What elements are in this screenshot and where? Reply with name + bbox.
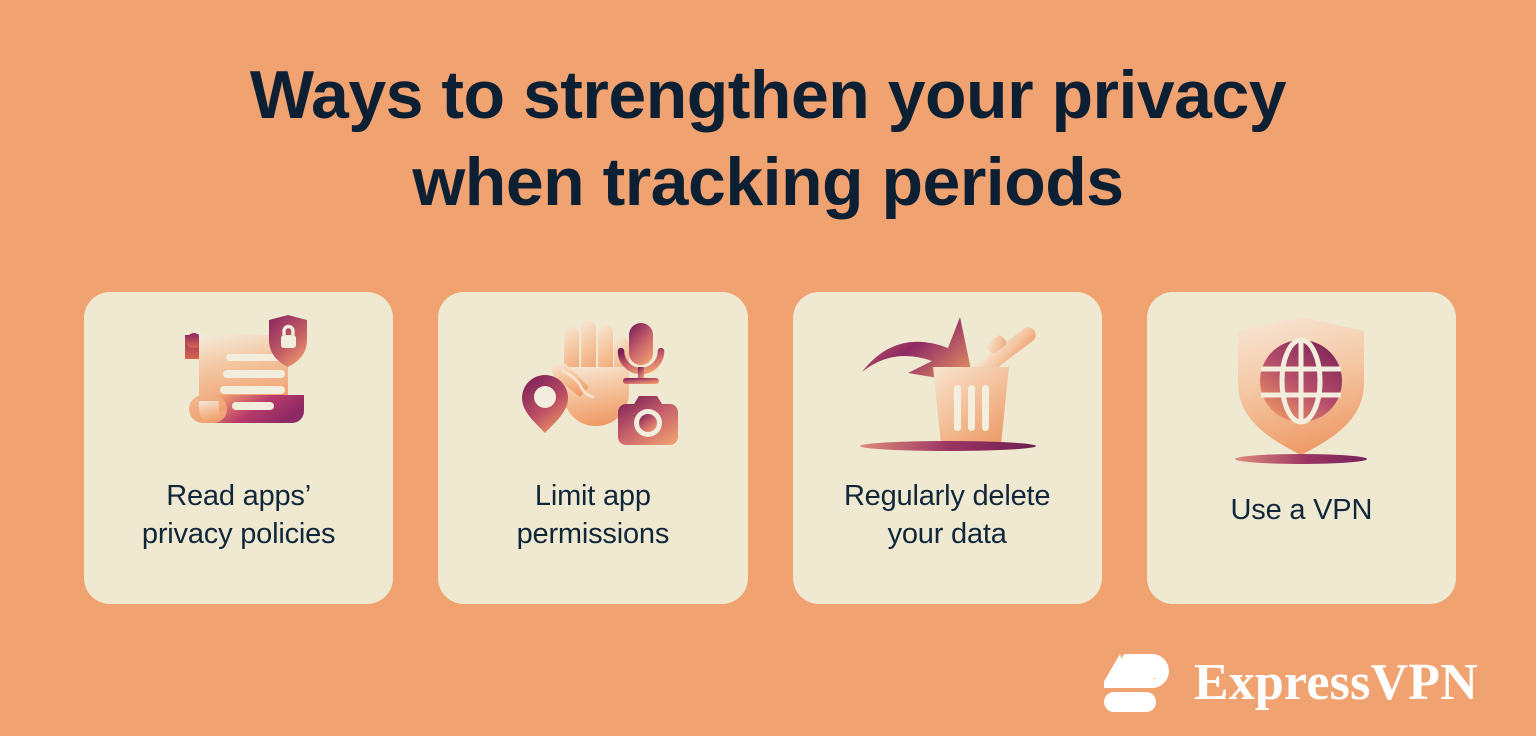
shield-globe-vpn-icon	[1147, 292, 1456, 477]
hand-stop-permissions-icon	[438, 292, 747, 477]
trash-can-delete-icon	[793, 292, 1102, 477]
tip-card-label: Limit app permissions	[503, 477, 684, 554]
privacy-policy-document-shield-icon	[84, 292, 393, 477]
tip-card-label: Use a VPN	[1217, 477, 1387, 529]
expressvpn-e-mark-icon	[1104, 652, 1176, 714]
tip-card-regularly-delete-data[interactable]: Regularly delete your data	[793, 292, 1102, 604]
tip-card-limit-app-permissions[interactable]: Limit app permissions	[438, 292, 747, 604]
tip-card-label: Read apps’ privacy policies	[128, 477, 349, 554]
expressvpn-logo[interactable]: ExpressVPN	[1104, 652, 1478, 714]
tip-card-label: Regularly delete your data	[830, 477, 1064, 554]
title-section: Ways to strengthen your privacy when tra…	[0, 0, 1536, 226]
tip-card-use-a-vpn[interactable]: Use a VPN	[1147, 292, 1456, 604]
brand-name: ExpressVPN	[1194, 657, 1478, 709]
tips-card-row: Read apps’ privacy policies	[84, 292, 1456, 604]
page-title: Ways to strengthen your privacy when tra…	[178, 52, 1358, 226]
tip-card-read-privacy-policies[interactable]: Read apps’ privacy policies	[84, 292, 393, 604]
infographic-root: Ways to strengthen your privacy when tra…	[0, 0, 1536, 736]
